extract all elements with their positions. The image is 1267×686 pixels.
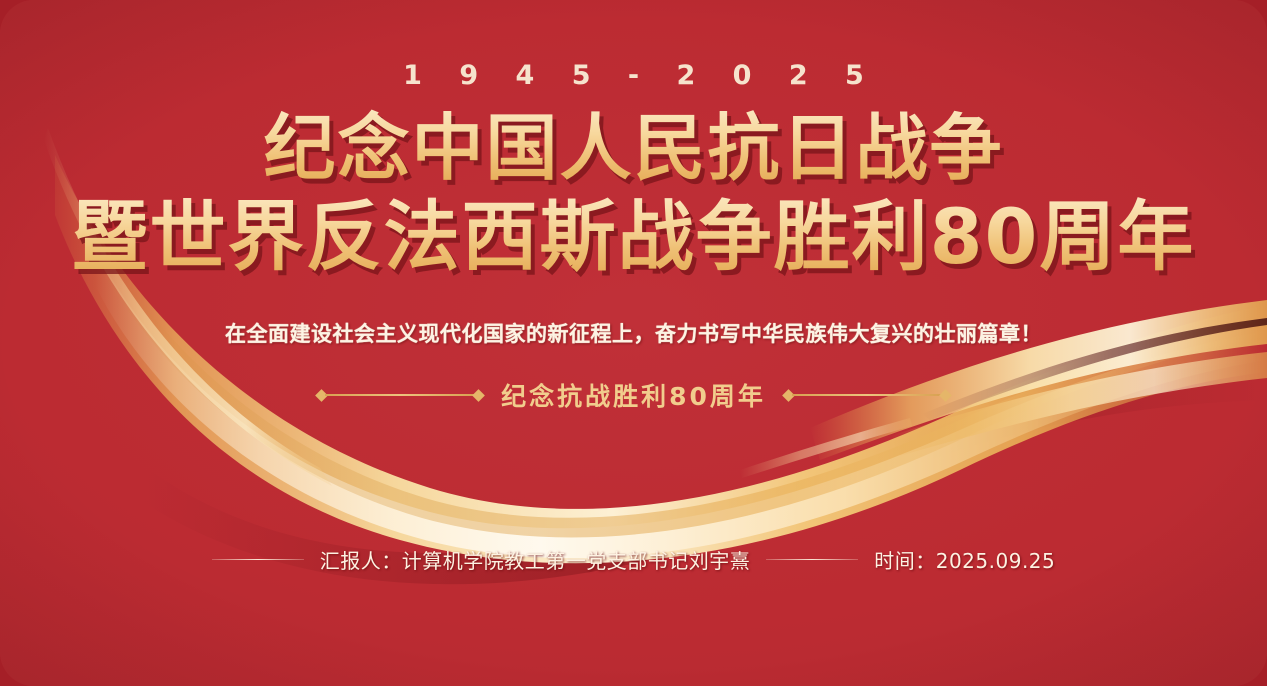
presenter-label: 汇报人：计算机学院教工第一党支部书记刘宇熹	[320, 545, 751, 574]
slide-footer: 汇报人：计算机学院教工第一党支部书记刘宇熹 时间：2025.09.25	[0, 545, 1267, 574]
diamond-icon	[939, 389, 952, 402]
main-title: 纪念中国人民抗日战争 暨世界反法西斯战争胜利80周年	[0, 105, 1267, 283]
slide-panel: 1 9 4 5 - 2 0 2 5 纪念中国人民抗日战争 暨世界反法西斯战争胜利…	[0, 0, 1267, 686]
presentation-slide: 1 9 4 5 - 2 0 2 5 纪念中国人民抗日战争 暨世界反法西斯战争胜利…	[0, 0, 1267, 686]
footer-rule-left	[212, 559, 304, 560]
subtitle-slogan: 在全面建设社会主义现代化国家的新征程上，奋力书写中华民族伟大复兴的壮丽篇章！	[0, 318, 1267, 348]
year-range: 1 9 4 5 - 2 0 2 5	[0, 60, 1267, 91]
deco-line-left	[317, 389, 483, 402]
diamond-icon	[472, 389, 485, 402]
title-line-1: 纪念中国人民抗日战争	[0, 105, 1267, 191]
date-label: 时间：2025.09.25	[874, 545, 1055, 574]
deco-line-right	[784, 389, 950, 402]
tagline-row: 纪念抗战胜利80周年	[0, 377, 1267, 413]
deco-bar	[792, 394, 942, 396]
slide-content: 1 9 4 5 - 2 0 2 5 纪念中国人民抗日战争 暨世界反法西斯战争胜利…	[0, 0, 1267, 686]
tagline-text: 纪念抗战胜利80周年	[501, 377, 766, 413]
title-line-2: 暨世界反法西斯战争胜利80周年	[0, 191, 1267, 283]
footer-rule-right	[766, 559, 858, 560]
deco-bar	[325, 394, 475, 396]
